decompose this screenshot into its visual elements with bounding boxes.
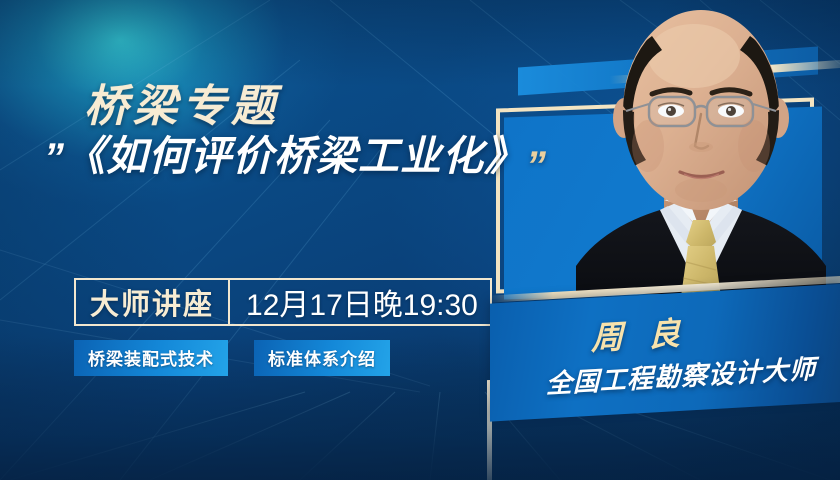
topic-pill: 标准体系介绍 [254,340,390,376]
headline-block: 桥梁专题 ” 《如何评价桥梁工业化》 ” [0,84,540,180]
lecture-poster: 桥梁专题 ” 《如何评价桥梁工业化》 ” 大师讲座 12月17日晚19:30 桥… [0,0,840,480]
topic-pill: 桥梁装配式技术 [74,340,228,376]
speaker-nameplate-text: 周 良 全国工程勘察设计大师 [500,292,830,420]
lecture-type-label: 大师讲座 [76,280,228,324]
lecture-datetime-label: 12月17日晚19:30 [230,280,490,324]
lecture-info-bar: 大师讲座 12月17日晚19:30 [74,278,492,326]
quote-open-icon: ” [44,138,62,178]
topic-pill-group: 桥梁装配式技术 标准体系介绍 [74,340,390,376]
page-title: 桥梁专题 [84,84,540,130]
subtitle-text: 《如何评价桥梁工业化》 [64,134,526,180]
speaker-portrait [556,0,840,294]
subtitle-row: ” 《如何评价桥梁工业化》 ” [44,134,540,180]
quote-close-icon: ” [526,146,544,186]
